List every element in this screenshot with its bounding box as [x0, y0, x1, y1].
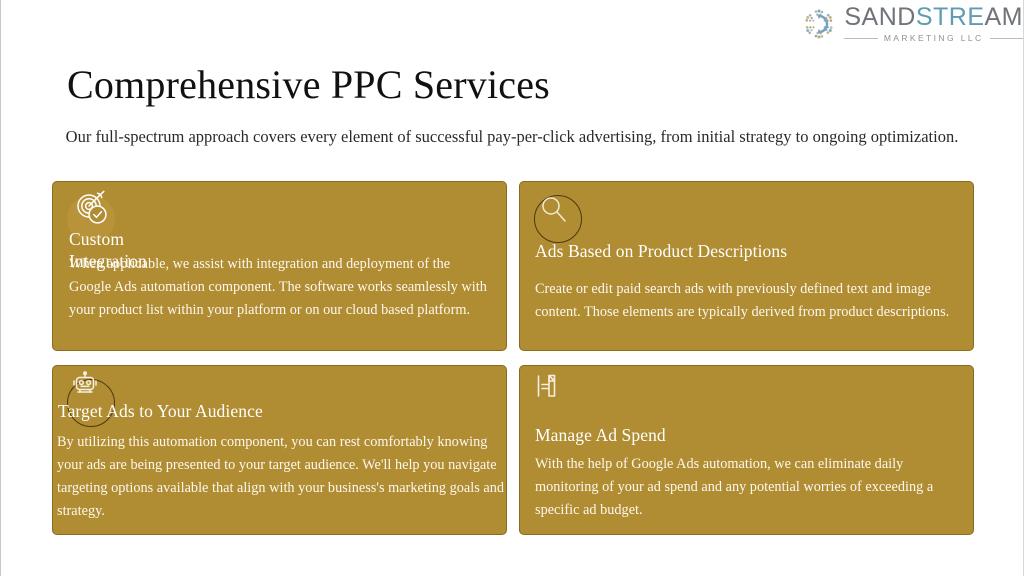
service-card-target-ads-to-your-audience[interactable]: Target Ads to Your Audience By utilizing…	[52, 365, 507, 535]
brand-name-part-1: SAND	[844, 3, 915, 31]
swirl-circle-logo-icon	[801, 6, 837, 42]
service-card-manage-ad-spend[interactable]: Manage Ad Spend With the help of Google …	[519, 365, 974, 535]
services-card-grid: Custom Integration When applicable, we a…	[52, 181, 974, 535]
brand-wordmark: SANDSTREAM MARKETING LLC	[844, 4, 1023, 43]
card-title: Ads Based on Product Descriptions	[535, 240, 955, 262]
tagline-rule-right	[990, 38, 1023, 39]
page-title: Comprehensive PPC Services	[67, 63, 550, 108]
card-title: Target Ads to Your Audience	[58, 400, 488, 422]
card-body: By utilizing this automation component, …	[57, 431, 507, 524]
page-header: SANDSTREAM MARKETING LLC	[1, 0, 1024, 46]
brand-logo[interactable]: SANDSTREAM MARKETING LLC	[801, 4, 1023, 43]
service-card-ads-based-on-product-descriptions[interactable]: Ads Based on Product Descriptions Create…	[519, 181, 974, 351]
card-body: With the help of Google Ads automation, …	[535, 453, 955, 522]
tagline-rule-left	[844, 38, 877, 39]
brand-name: SANDSTREAM	[844, 5, 1023, 30]
brand-tagline: MARKETING LLC	[884, 33, 984, 43]
brand-name-part-3: AM	[985, 3, 1024, 31]
document-lines-icon	[534, 372, 586, 424]
service-card-custom-integration[interactable]: Custom Integration When applicable, we a…	[52, 181, 507, 351]
brand-name-part-2: STRE	[916, 3, 985, 31]
page-subtitle: Our full-spectrum approach covers every …	[63, 123, 961, 151]
card-title: Manage Ad Spend	[535, 424, 955, 446]
magnifying-glass-icon	[534, 188, 586, 240]
card-body: Create or edit paid search ads with prev…	[535, 278, 963, 324]
brand-tagline-row: MARKETING LLC	[844, 33, 1023, 43]
card-body: When applicable, we assist with integrat…	[69, 253, 487, 322]
